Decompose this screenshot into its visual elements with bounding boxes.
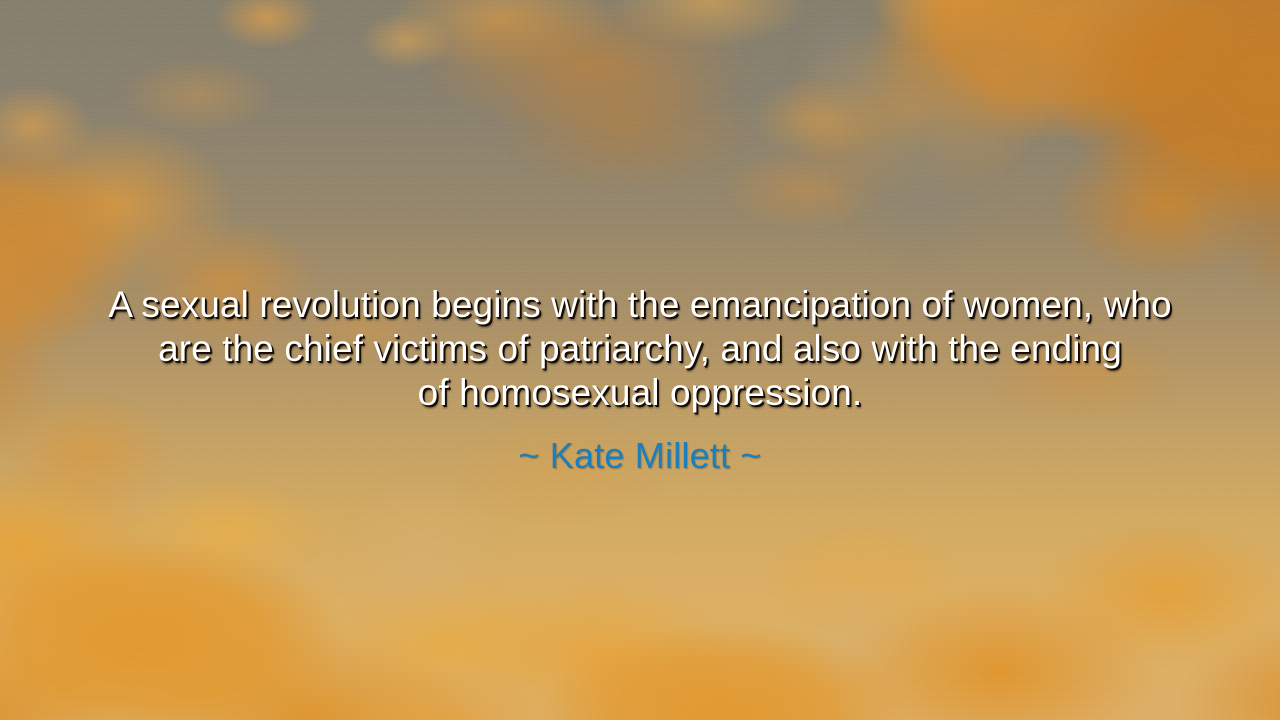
quote-card: A sexual revolution begins with the eman… bbox=[0, 0, 1280, 720]
sky-gap-highlights bbox=[0, 0, 1280, 720]
